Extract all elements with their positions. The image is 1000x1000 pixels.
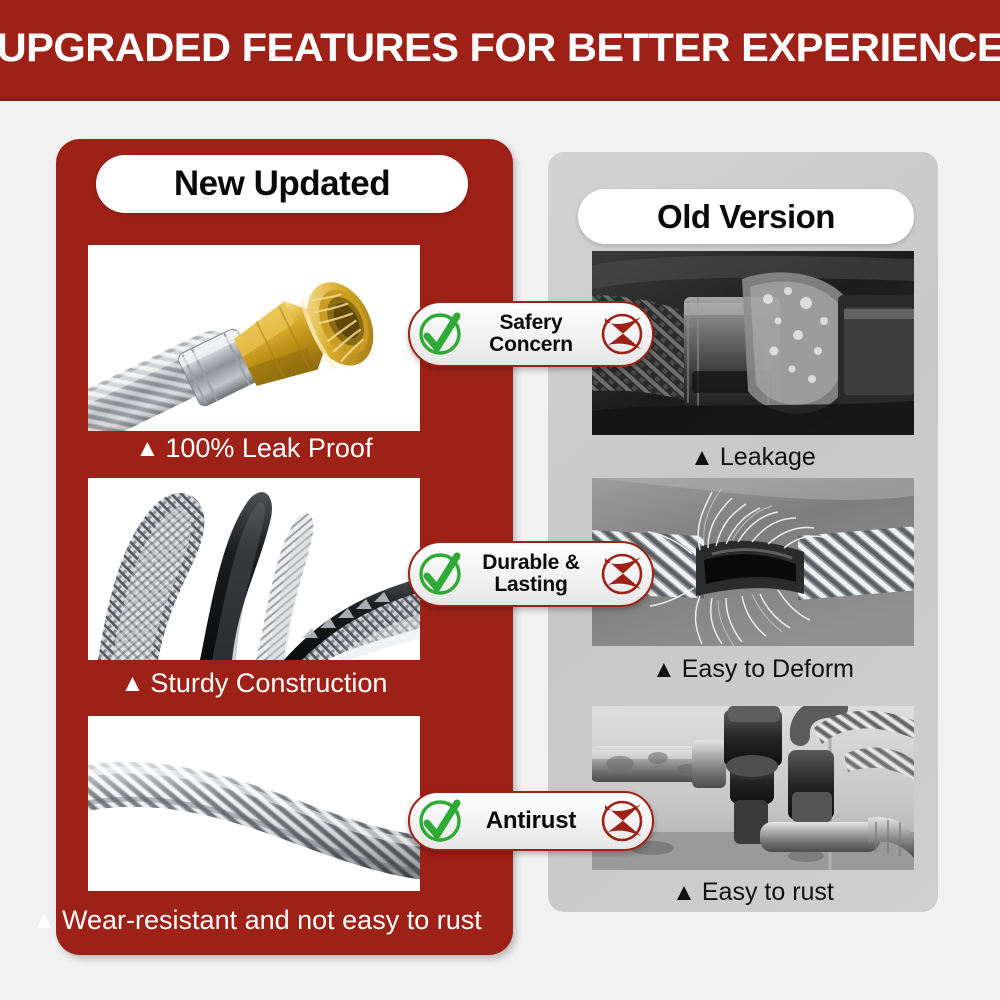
triangle-marker-icon: ▲ bbox=[136, 437, 160, 461]
infographic-root: UPGRADED FEATURES FOR BETTER EXPERIENCE … bbox=[0, 0, 1000, 1000]
badge-label-line1: Durable & bbox=[466, 552, 596, 574]
triangle-marker-icon: ▲ bbox=[121, 672, 145, 696]
braided-hose-brass-fitting-art bbox=[88, 245, 420, 431]
header-banner: UPGRADED FEATURES FOR BETTER EXPERIENCE bbox=[0, 0, 1000, 97]
badge-safety-concern: Safery Concern bbox=[408, 301, 654, 367]
page-title: UPGRADED FEATURES FOR BETTER EXPERIENCE bbox=[0, 26, 1000, 71]
old-version-title: Old Version bbox=[657, 198, 835, 236]
caption-text: Wear-resistant and not easy to rust bbox=[62, 905, 482, 936]
check-circle-icon bbox=[414, 795, 466, 847]
hose-layer-cutaway-art bbox=[88, 478, 420, 660]
photo-braided-hose-brass-fitting bbox=[88, 245, 420, 431]
badge-label-line2: Concern bbox=[466, 334, 596, 356]
badge-label: Antirust bbox=[466, 808, 596, 833]
triangle-marker-icon: ▲ bbox=[672, 881, 696, 905]
caption-text: Easy to rust bbox=[702, 878, 834, 907]
cross-circle-icon bbox=[596, 795, 648, 847]
badge-antirust: Antirust bbox=[408, 791, 654, 851]
caption-text: Leakage bbox=[720, 443, 816, 472]
photo-braided-hose-length bbox=[88, 716, 420, 891]
new-updated-title: New Updated bbox=[174, 164, 390, 204]
braided-hose-length-art bbox=[88, 716, 420, 891]
caption-easy-to-deform: ▲ Easy to Deform bbox=[592, 655, 914, 684]
caption-text: Easy to Deform bbox=[682, 655, 854, 684]
triangle-marker-icon: ▲ bbox=[32, 909, 56, 933]
badge-label-line1: Antirust bbox=[466, 808, 596, 833]
cross-circle-icon bbox=[596, 308, 648, 360]
caption-wear-resistant: ▲ Wear-resistant and not easy to rust bbox=[72, 905, 442, 936]
badge-label-line2: Lasting bbox=[466, 574, 596, 596]
check-circle-icon bbox=[414, 548, 466, 600]
caption-sturdy-construction: ▲ Sturdy Construction bbox=[88, 668, 420, 699]
badge-label: Safery Concern bbox=[466, 312, 596, 356]
badge-label-line1: Safery bbox=[466, 312, 596, 334]
caption-text: 100% Leak Proof bbox=[165, 433, 372, 464]
old-version-title-pill: Old Version bbox=[578, 189, 914, 244]
caption-leakage: ▲ Leakage bbox=[592, 443, 914, 472]
caption-easy-to-rust: ▲ Easy to rust bbox=[592, 878, 914, 907]
badge-label: Durable & Lasting bbox=[466, 552, 596, 596]
caption-text: Sturdy Construction bbox=[150, 668, 387, 699]
header-divider bbox=[0, 97, 1000, 101]
triangle-marker-icon: ▲ bbox=[652, 658, 676, 682]
check-circle-icon bbox=[414, 308, 466, 360]
photo-hose-layer-cutaway bbox=[88, 478, 420, 660]
new-updated-title-pill: New Updated bbox=[96, 155, 468, 213]
caption-leak-proof: ▲ 100% Leak Proof bbox=[88, 433, 420, 464]
badge-durable-lasting: Durable & Lasting bbox=[408, 541, 654, 607]
triangle-marker-icon: ▲ bbox=[690, 446, 714, 470]
cross-circle-icon bbox=[596, 548, 648, 600]
